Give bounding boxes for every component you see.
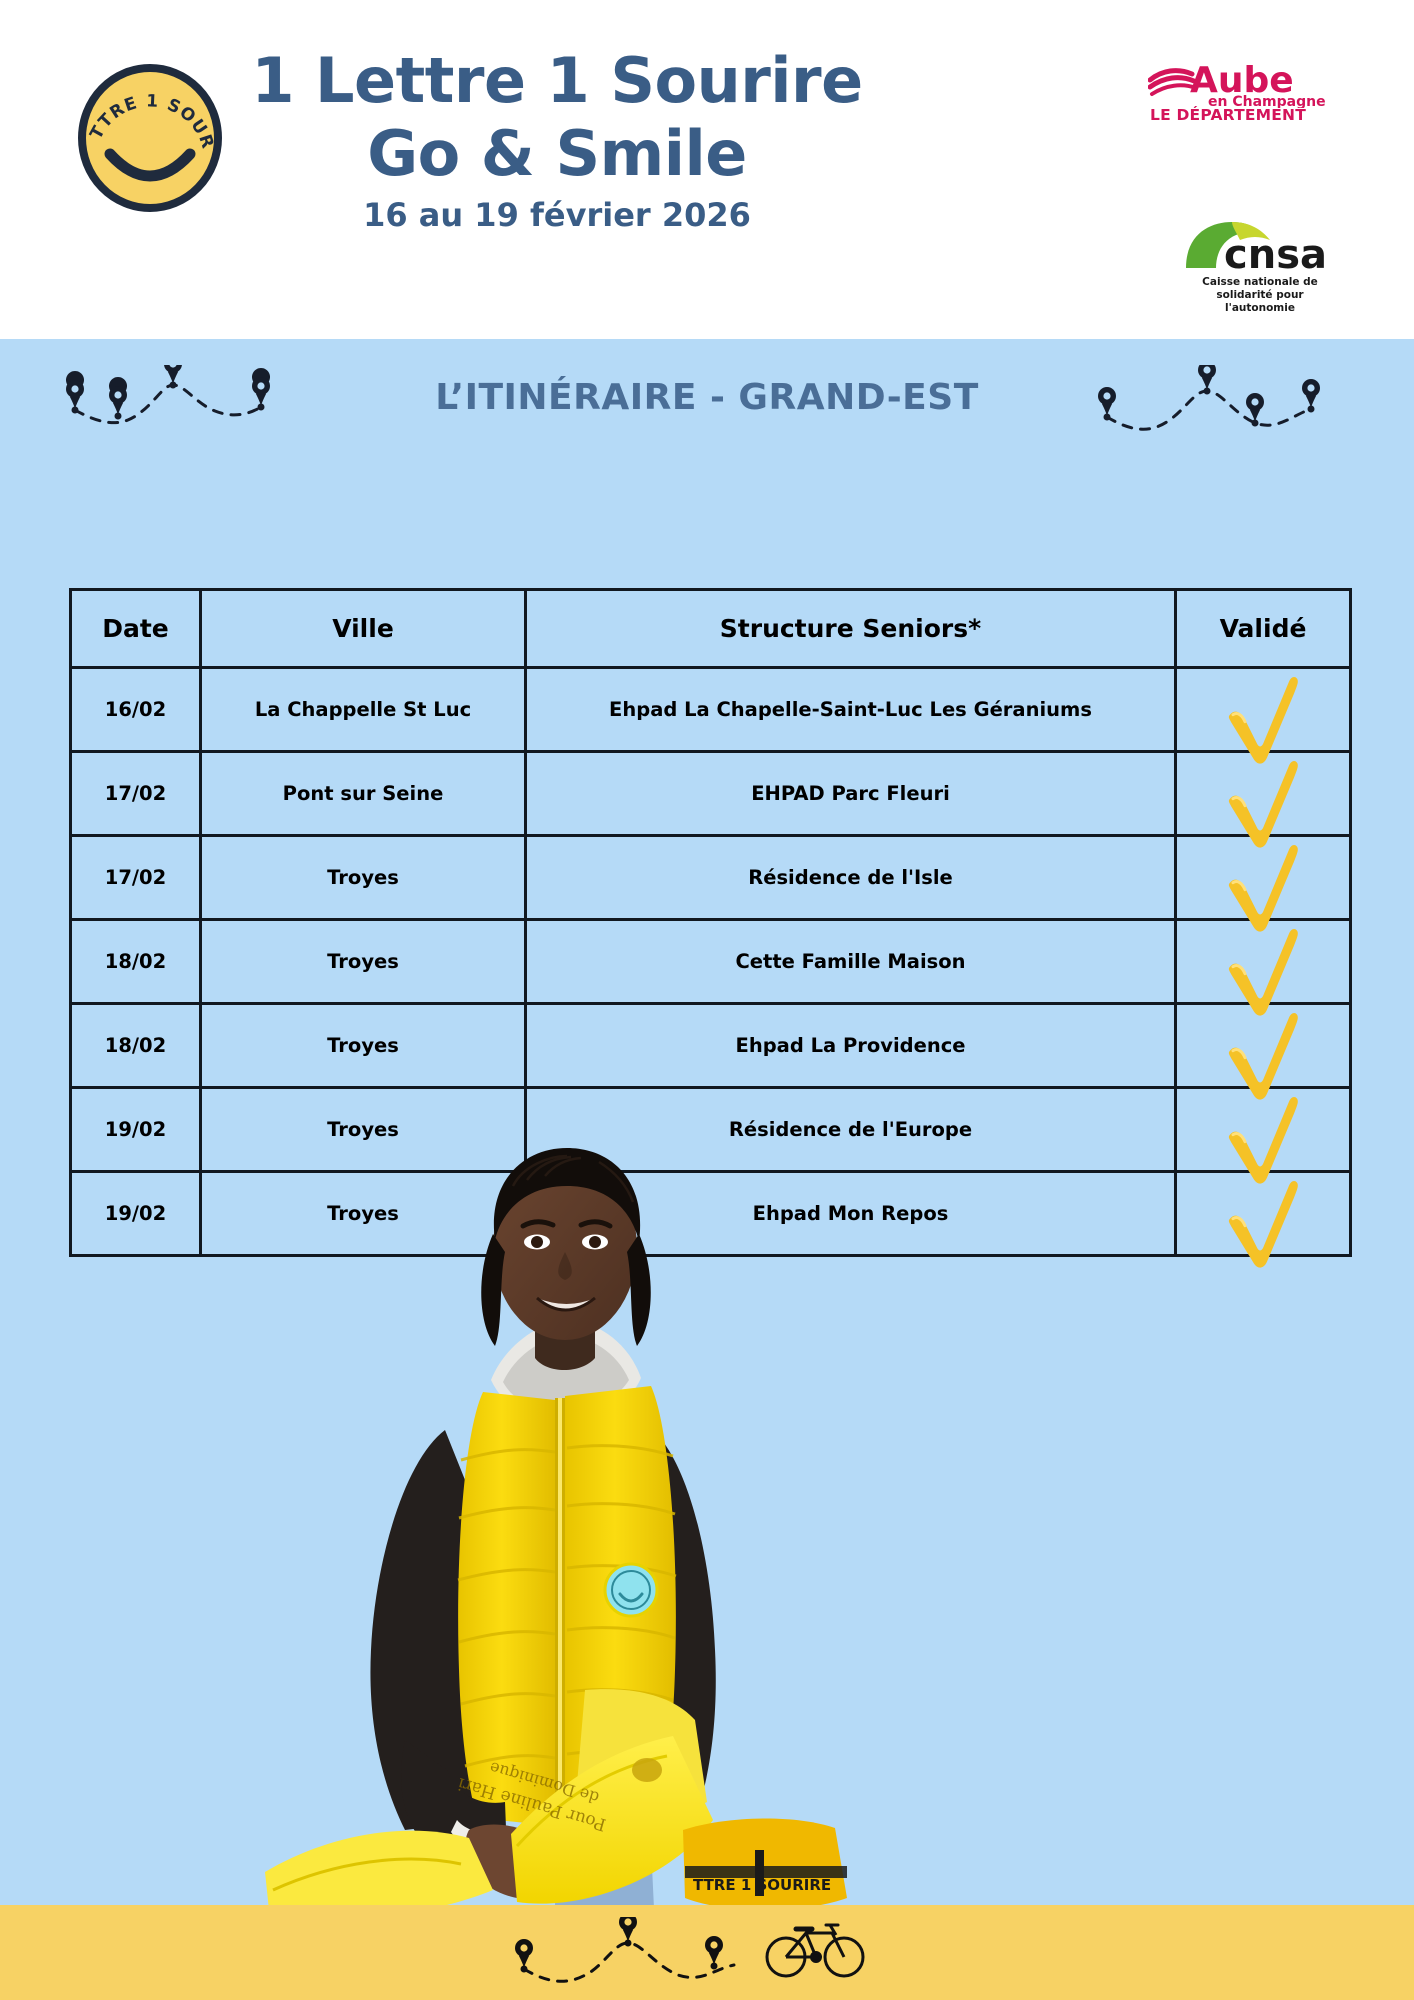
column-header-structure: Structure Seniors*: [526, 590, 1176, 668]
poster-title-line1: 1 Lettre 1 Sourire: [251, 44, 862, 117]
table-header-row: Date Ville Structure Seniors* Validé: [71, 590, 1351, 668]
volunteer-photo: Pour Pauline Hari de Dominique TTRE 1 SO…: [255, 1130, 865, 1910]
cell-date: 16/02: [71, 668, 201, 752]
cnsa-logo: cnsa Caisse nationale de solidarité pour…: [1180, 218, 1340, 308]
cell-date: 17/02: [71, 836, 201, 920]
aube-subtitle: LE DÉPARTEMENT: [1150, 106, 1306, 124]
poster-dates: 16 au 19 février 2026: [251, 196, 862, 234]
bicycle-icon: [767, 1925, 863, 1976]
cell-structure: EHPAD Parc Fleuri: [526, 752, 1176, 836]
poster-header: 1 LETTRE 1 SOURIRE 1 Lettre 1 Sourire Go…: [0, 0, 1414, 339]
cell-ville: Troyes: [201, 836, 526, 920]
validated-check-icon: [1215, 1173, 1311, 1269]
vest-smiley-badge-icon: [605, 1564, 657, 1616]
table-row: 17/02TroyesRésidence de l'Isle: [71, 836, 1351, 920]
cell-valide: [1176, 836, 1351, 920]
bag-text: TTRE 1 SOURIRE: [693, 1876, 831, 1894]
courier-bag: TTRE 1 SOURIRE: [683, 1818, 847, 1910]
poster-title-line2: Go & Smile: [251, 117, 862, 190]
cell-structure: Résidence de l'Isle: [526, 836, 1176, 920]
svg-text:cnsa: cnsa: [1224, 232, 1327, 276]
cell-ville: Troyes: [201, 1004, 526, 1088]
poster-footer: [0, 1905, 1414, 2000]
cnsa-caption: Caisse nationale de solidarité pour l'au…: [1180, 276, 1340, 315]
cell-structure: Ehpad La Chapelle-Saint-Luc Les Géranium…: [526, 668, 1176, 752]
route-dashed-line-right-icon: [1085, 365, 1365, 435]
cell-valide: [1176, 752, 1351, 836]
cell-ville: La Chappelle St Luc: [201, 668, 526, 752]
cnsa-wordmark-icon: cnsa: [1180, 218, 1340, 276]
cell-valide: [1176, 1088, 1351, 1172]
cell-date: 19/02: [71, 1088, 201, 1172]
cell-valide: [1176, 668, 1351, 752]
cell-valide: [1176, 1172, 1351, 1256]
aube-logo: Aube en Champagne LE DÉPARTEMENT: [1148, 58, 1328, 136]
cell-ville: Pont sur Seine: [201, 752, 526, 836]
cnsa-caption-line1: Caisse nationale de: [1180, 276, 1340, 289]
footer-route-icon: [500, 1917, 880, 1987]
cell-structure: Ehpad La Providence: [526, 1004, 1176, 1088]
cell-date: 18/02: [71, 920, 201, 1004]
cell-valide: [1176, 1004, 1351, 1088]
cell-date: 19/02: [71, 1172, 201, 1256]
table-row: 17/02Pont sur SeineEHPAD Parc Fleuri: [71, 752, 1351, 836]
table-row: 18/02TroyesCette Famille Maison: [71, 920, 1351, 1004]
table-row: 16/02La Chappelle St LucEhpad La Chapell…: [71, 668, 1351, 752]
column-header-date: Date: [71, 590, 201, 668]
column-header-valide: Validé: [1176, 590, 1351, 668]
column-header-ville: Ville: [201, 590, 526, 668]
cell-valide: [1176, 920, 1351, 1004]
cnsa-caption-line2: solidarité pour l'autonomie: [1180, 289, 1340, 315]
cell-ville: Troyes: [201, 920, 526, 1004]
aube-wordmark-icon: Aube en Champagne: [1148, 58, 1328, 108]
cell-date: 18/02: [71, 1004, 201, 1088]
itinerary-header-row: L’ITINÉRAIRE - GRAND-EST: [0, 355, 1414, 460]
cell-structure: Cette Famille Maison: [526, 920, 1176, 1004]
table-row: 18/02TroyesEhpad La Providence: [71, 1004, 1351, 1088]
cell-date: 17/02: [71, 752, 201, 836]
